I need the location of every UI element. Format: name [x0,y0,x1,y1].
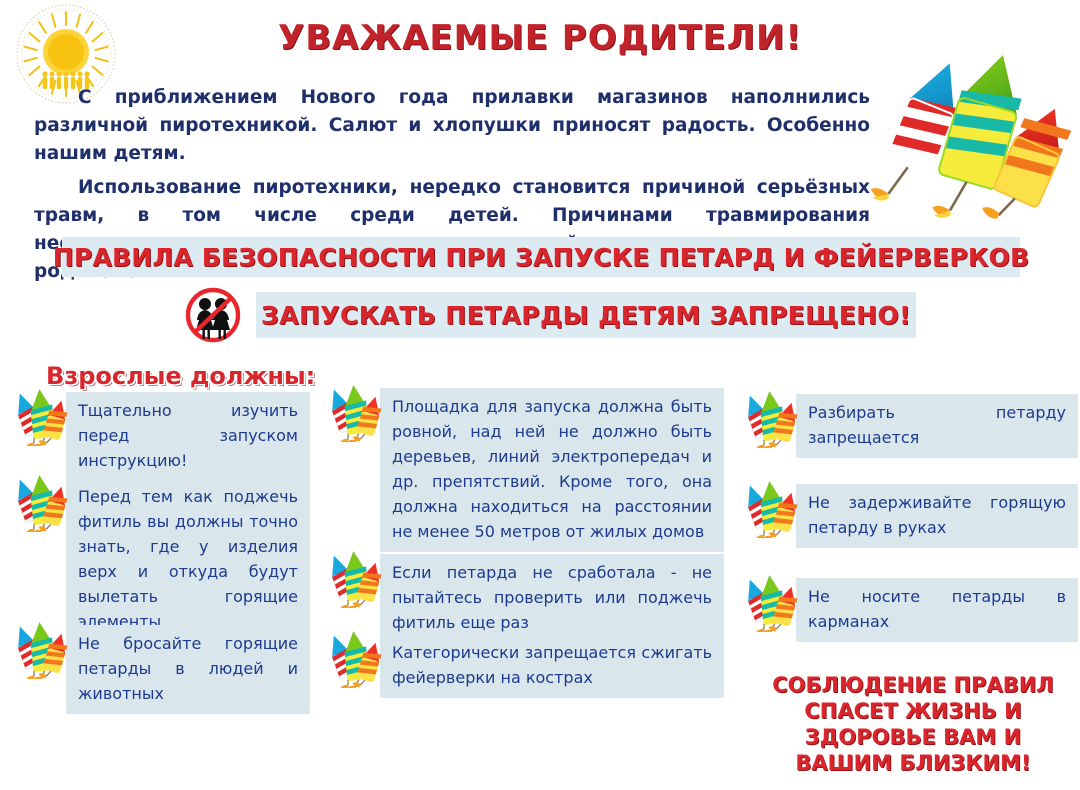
list-item: Перед тем как поджечь фитиль вы должны т… [14,478,310,642]
firework-rocket-icon [326,384,382,442]
safety-rules-banner-text: ПРАВИЛА БЕЗОПАСНОСТИ ПРИ ЗАПУСКЕ ПЕТАРД … [53,243,1029,272]
rule-text: Перед тем как поджечь фитиль вы должны т… [66,478,310,642]
poster-canvas: УВАЖАЕМЫЕ РОДИТЕЛИ! С приближением Новог… [0,0,1080,790]
adults-must-heading: Взрослые должны: [46,362,315,390]
rule-text: Не задерживайте горящую петарду в руках [796,484,1078,548]
list-item: Не бросайте горящие петарды в людей и жи… [14,625,310,714]
firework-rocket-icon-decorative-large [862,52,1078,222]
no-children-prohibition-icon [182,287,244,343]
rule-text: Не бросайте горящие петарды в людей и жи… [66,625,310,714]
rule-text: Не носите петарды в карманах [796,578,1078,642]
list-item: Не носите петарды в карманах [744,578,1078,642]
list-item: Если петарда не сработала - не пытайтесь… [328,554,724,643]
firework-rocket-icon [742,480,798,538]
firework-rocket-icon [12,474,68,532]
firework-rocket-icon [326,630,382,688]
firework-rocket-icon [326,550,382,608]
list-item: Разбирать петарду запрещается [744,394,1078,458]
rule-text: Разбирать петарду запрещается [796,394,1078,458]
safety-rules-banner: ПРАВИЛА БЕЗОПАСНОСТИ ПРИ ЗАПУСКЕ ПЕТАРД … [62,237,1020,277]
rule-text: Категорически запрещается сжигать фейерв… [380,634,724,698]
list-item: Категорически запрещается сжигать фейерв… [328,634,724,698]
children-prohibited-banner-text: ЗАПУСКАТЬ ПЕТАРДЫ ДЕТЯМ ЗАПРЕЩЕНО! [261,301,911,330]
firework-rocket-icon [742,574,798,632]
firework-rocket-icon [12,388,68,446]
rule-text: Тщательно изучить перед запуском инструк… [66,392,310,481]
list-item: Не задерживайте горящую петарду в руках [744,484,1078,548]
firework-rocket-icon [742,390,798,448]
children-prohibited-banner: ЗАПУСКАТЬ ПЕТАРДЫ ДЕТЯМ ЗАПРЕЩЕНО! [256,292,916,338]
list-item: Тщательно изучить перед запуском инструк… [14,392,310,481]
list-item: Площадка для запуска должна быть ровной,… [328,388,724,552]
firework-rocket-icon [12,621,68,679]
closing-slogan: СОБЛЮДЕНИЕ ПРАВИЛ СПАСЕТ ЖИЗНЬ И ЗДОРОВЬ… [760,672,1066,776]
rule-text: Если петарда не сработала - не пытайтесь… [380,554,724,643]
rule-text: Площадка для запуска должна быть ровной,… [380,388,724,552]
intro-paragraph-1: С приближением Нового года прилавки мага… [34,84,870,168]
